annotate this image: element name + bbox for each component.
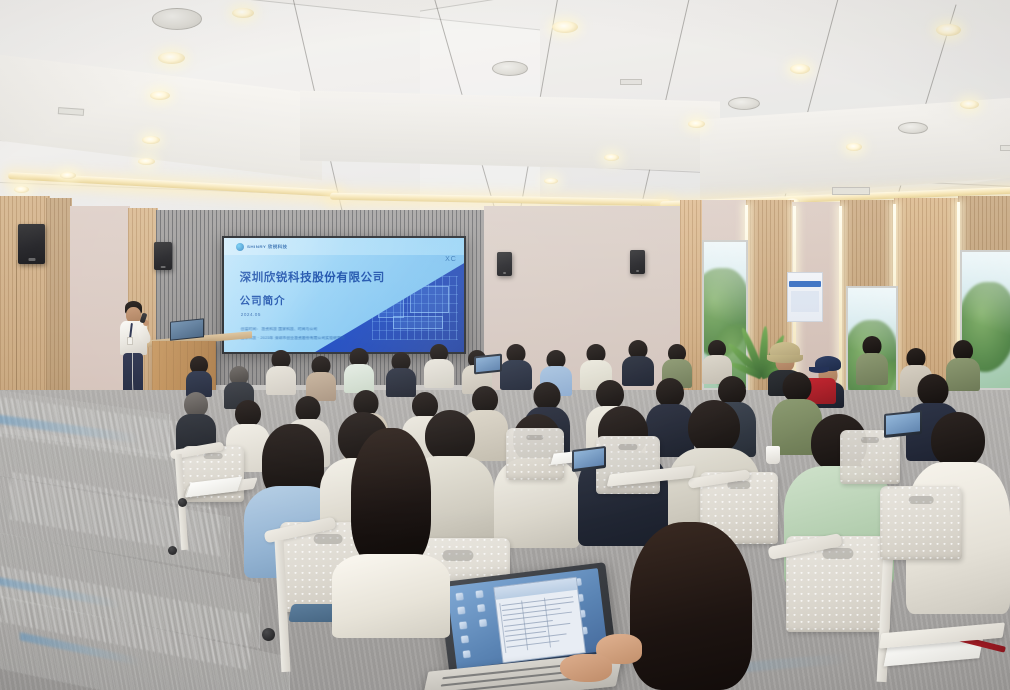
desktop-icon[interactable] (463, 650, 471, 658)
air-vent (1000, 145, 1010, 151)
chair[interactable] (880, 486, 962, 560)
slide-title: 深圳欣锐科技股份有限公司 (240, 269, 385, 285)
downlight (688, 120, 705, 128)
slide-logo-bar: SHINRY 欣锐科技 (224, 238, 464, 255)
downlight (14, 186, 29, 193)
company-logo-text: SHINRY 欣锐科技 (247, 244, 287, 249)
audience-laptop-screen (476, 356, 500, 373)
head (596, 380, 624, 409)
head (931, 412, 985, 468)
foreground-operator (596, 522, 786, 690)
downlight (142, 136, 160, 144)
head (472, 386, 498, 413)
operator-hand (560, 654, 612, 682)
company-logo-icon (236, 243, 244, 251)
caster-wheel (178, 498, 187, 507)
air-vent (620, 79, 642, 85)
chair-handle[interactable] (909, 496, 934, 504)
slide-corner-mark: XC (445, 256, 457, 263)
ceiling-speaker (898, 122, 928, 134)
downlight (544, 178, 558, 184)
audience-laptop-screen (886, 412, 920, 435)
presenter-badge (127, 337, 133, 345)
downlight (232, 8, 254, 18)
notice-body (791, 291, 820, 312)
head (534, 382, 561, 410)
downlight (960, 100, 979, 109)
chair-handle[interactable] (526, 435, 543, 441)
downlight (846, 143, 862, 151)
desktop-icon[interactable] (479, 619, 487, 627)
body (856, 353, 888, 385)
laptop-app-window[interactable] (493, 576, 586, 663)
hair (351, 428, 431, 568)
downlight (60, 172, 76, 179)
head (688, 400, 740, 454)
audience-member (344, 348, 374, 392)
caster-wheel (262, 628, 275, 641)
downlight (604, 154, 619, 161)
chair-handle[interactable] (204, 453, 223, 459)
chair-handle[interactable] (727, 481, 750, 489)
projection-screen: SHINRY 欣锐科技 XC 深圳欣锐科技股份有限公司 公司简介 2024.05… (222, 236, 466, 354)
audience-member (306, 356, 336, 400)
audience-member (424, 344, 454, 388)
body (344, 364, 374, 393)
body (266, 366, 296, 395)
ceiling-speaker (152, 8, 202, 30)
hat-brim (767, 355, 803, 363)
downlight (790, 64, 810, 74)
chair-handle[interactable] (822, 548, 853, 559)
body (332, 554, 450, 638)
downlight (158, 52, 185, 64)
wall-speaker (154, 242, 172, 270)
audience-member (856, 336, 888, 386)
slide-subtitle: 公司简介 (240, 293, 286, 308)
downlight (150, 91, 170, 100)
ceiling-speaker (728, 97, 760, 110)
notice-board[interactable] (787, 272, 823, 322)
desktop-icon[interactable] (475, 590, 483, 598)
audience-member (386, 352, 416, 396)
downlight (138, 158, 155, 165)
ceiling (0, 0, 1010, 232)
paper-cup[interactable] (766, 446, 780, 464)
slide-note-1: 创建时间： 投资科技 国家科技、时间与公司 (241, 327, 318, 331)
body (424, 359, 454, 388)
desktop-icon[interactable] (457, 607, 465, 615)
desktop-icon[interactable] (461, 636, 469, 644)
desktop-icon[interactable] (477, 604, 485, 612)
air-vent (832, 187, 870, 195)
ceiling-speaker (492, 61, 528, 76)
audience-member (266, 350, 296, 394)
slide-date: 2024.05 (241, 312, 261, 317)
head (918, 374, 949, 406)
caster-wheel (168, 546, 177, 555)
wall-speaker (630, 250, 645, 274)
chair[interactable] (840, 430, 900, 484)
audience-member-foreground-left (332, 428, 450, 634)
downlight (552, 21, 578, 33)
slide-note-2: 国家科技 · 2023年 深圳市创业投资股份有限公司实验研究院 (241, 336, 345, 340)
presentation-slide: SHINRY 欣锐科技 XC 深圳欣锐科技股份有限公司 公司简介 2024.05… (224, 238, 464, 352)
head (783, 372, 812, 402)
conference-room-photo: SHINRY 欣锐科技 XC 深圳欣锐科技股份有限公司 公司简介 2024.05… (0, 0, 1010, 690)
desktop-icon[interactable] (459, 621, 467, 629)
hair (630, 522, 752, 690)
desktop-icon[interactable] (456, 592, 464, 600)
podium-laptop[interactable] (170, 318, 204, 341)
chair-handle[interactable] (618, 444, 637, 450)
audience-member (186, 356, 212, 396)
chair-handle[interactable] (861, 437, 879, 443)
wall-speaker (497, 252, 512, 276)
wall-speaker (18, 224, 45, 264)
downlight (936, 24, 961, 36)
head (235, 400, 261, 427)
notice-band (789, 281, 820, 287)
